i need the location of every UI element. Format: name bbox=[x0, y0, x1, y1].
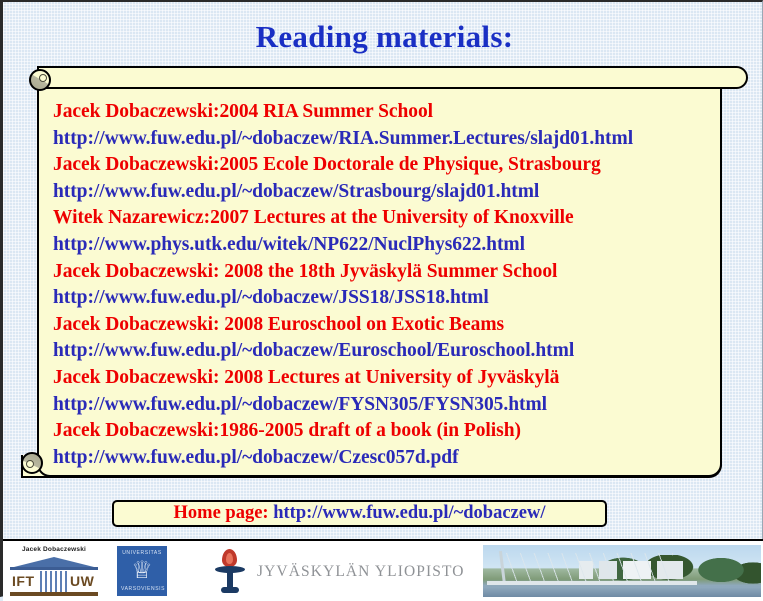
entry-title: Jacek Dobaczewski: 2008 Euroschool on Ex… bbox=[53, 312, 718, 339]
entry-url[interactable]: http://www.phys.utk.edu/witek/NP622/Nucl… bbox=[53, 232, 718, 259]
uw-label: UW bbox=[70, 573, 94, 589]
entry-url[interactable]: http://www.fuw.edu.pl/~dobaczew/Euroscho… bbox=[53, 338, 718, 365]
author-name-label: Jacek Dobaczewski bbox=[11, 546, 97, 553]
entry-url[interactable]: http://www.fuw.edu.pl/~dobaczew/Strasbou… bbox=[53, 179, 718, 206]
slide: Reading materials: Jacek Dobaczewski:200… bbox=[0, 0, 763, 597]
home-page-box[interactable]: Home page: http://www.fuw.edu.pl/~dobacz… bbox=[112, 500, 607, 527]
reading-list: Jacek Dobaczewski:2004 RIA Summer School… bbox=[53, 99, 718, 471]
photo-water bbox=[483, 587, 761, 597]
building-architrave-icon bbox=[10, 567, 98, 570]
photo-bridge-deck bbox=[487, 581, 697, 585]
entry-url[interactable]: http://www.fuw.edu.pl/~dobaczew/FYSN305/… bbox=[53, 392, 718, 419]
home-page-url[interactable]: http://www.fuw.edu.pl/~dobaczew/ bbox=[269, 503, 546, 523]
entry-title: Jacek Dobaczewski: 2008 Lectures at Univ… bbox=[53, 365, 718, 392]
entry-title: Jacek Dobaczewski:1986-2005 draft of a b… bbox=[53, 418, 718, 445]
scroll-top-roll bbox=[37, 66, 748, 89]
scroll-panel: Jacek Dobaczewski:2004 RIA Summer School… bbox=[21, 66, 748, 478]
scroll-curl-notch-icon bbox=[26, 460, 34, 468]
campus-photo-image bbox=[483, 545, 761, 597]
entry-url[interactable]: http://www.fuw.edu.pl/~dobaczew/RIA.Summ… bbox=[53, 126, 718, 153]
ift-label: IFT bbox=[12, 573, 35, 589]
uw-crest-logo: UNIVERSITAS ♕ VARSOVIENSIS bbox=[111, 541, 173, 601]
jyvaskyla-label: JYVÄSKYLÄN YLIOPISTO bbox=[257, 563, 465, 581]
entry-url[interactable]: http://www.fuw.edu.pl/~dobaczew/JSS18/JS… bbox=[53, 285, 718, 312]
torch-flame-icon bbox=[222, 549, 237, 567]
scroll-curl-bottom-icon bbox=[21, 452, 43, 474]
crest-arc-bottom-label: VARSOVIENSIS bbox=[121, 586, 163, 592]
torch-icon bbox=[213, 549, 247, 595]
home-page-label: Home page: bbox=[174, 503, 269, 523]
footer-logo-strip: Jacek Dobaczewski IFT UW UNIVERSITAS ♕ V… bbox=[3, 539, 763, 601]
scroll-curl-notch-icon bbox=[39, 74, 47, 82]
ift-uw-logo: Jacek Dobaczewski IFT UW bbox=[3, 541, 103, 601]
university-building-icon: IFT UW bbox=[10, 557, 98, 595]
entry-url[interactable]: http://www.fuw.edu.pl/~dobaczew/Czesc057… bbox=[53, 445, 718, 472]
jyvaskyla-university-logo: JYVÄSKYLÄN YLIOPISTO bbox=[203, 541, 473, 601]
entry-title: Witek Nazarewicz:2007 Lectures at the Un… bbox=[53, 205, 718, 232]
campus-photo bbox=[481, 541, 763, 601]
building-base-icon bbox=[10, 592, 98, 596]
entry-title: Jacek Dobaczewski: 2008 the 18th Jyväsky… bbox=[53, 259, 718, 286]
torch-foot-icon bbox=[221, 587, 239, 593]
scroll-curl-top-icon bbox=[29, 69, 51, 91]
page-title: Reading materials: bbox=[3, 18, 763, 56]
entry-title: Jacek Dobaczewski:2005 Ecole Doctorale d… bbox=[53, 152, 718, 179]
crest-arc-top-label: UNIVERSITAS bbox=[121, 550, 163, 556]
photo-bridge-cables bbox=[503, 553, 673, 583]
crest-shield-icon: UNIVERSITAS ♕ VARSOVIENSIS bbox=[117, 546, 167, 596]
home-page-text: Home page: http://www.fuw.edu.pl/~dobacz… bbox=[174, 503, 546, 523]
entry-title: Jacek Dobaczewski:2004 RIA Summer School bbox=[53, 99, 718, 126]
scroll-body: Jacek Dobaczewski:2004 RIA Summer School… bbox=[37, 87, 722, 477]
eagle-icon: ♕ bbox=[128, 558, 156, 584]
